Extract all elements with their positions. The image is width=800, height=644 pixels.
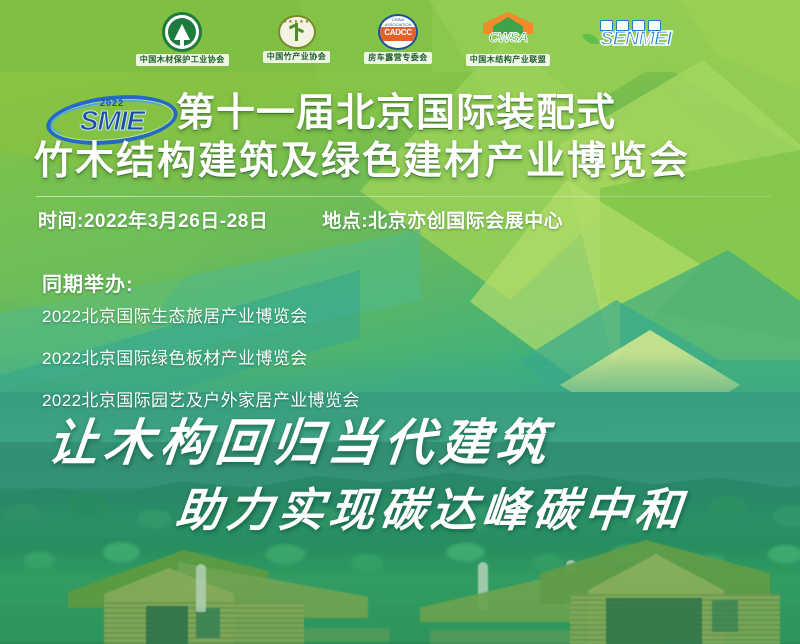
sponsor-name-cn: 中国竹产业协会 <box>263 51 331 63</box>
sponsor-logo-senmei[interactable]: SENMEI <box>584 22 694 56</box>
exhibition-poster: 中国木材保护工业协会 ★★★★★ 中国竹产业协会 CHINA ASSOCIATI… <box>0 0 800 644</box>
sponsor-logo-bamboo-association[interactable]: ★★★★★ 中国竹产业协会 <box>263 15 331 63</box>
cadcc-seal-icon: CHINA ASSOCIATION CADCC <box>378 14 418 50</box>
list-item: 2022北京国际绿色板材产业博览会 <box>42 344 360 369</box>
house-logo-icon: CWSA <box>475 12 541 52</box>
sponsor-name-cn: 房车露营专委会 <box>364 52 432 64</box>
title-line-2: 竹木结构建筑及绿色建材产业博览会 <box>34 142 786 183</box>
concurrent-heading: 同期举办: <box>42 268 134 297</box>
title-line-1: 第十一届北京国际装配式 <box>176 94 784 135</box>
list-item: 2022北京国际生态旅居产业博览会 <box>42 302 360 327</box>
sponsor-name-cn: 中国木材保护工业协会 <box>136 54 229 66</box>
sponsor-logo-strip: 中国木材保护工业协会 ★★★★★ 中国竹产业协会 CHINA ASSOCIATI… <box>0 0 800 78</box>
senmei-leaf-icon: SENMEI <box>584 22 694 56</box>
list-item: 2022北京国际园艺及户外家居产业博览会 <box>42 386 360 411</box>
concurrent-events-list: 2022北京国际生态旅居产业博览会 2022北京国际绿色板材产业博览会 2022… <box>42 302 360 428</box>
sponsor-logo-cadcc[interactable]: CHINA ASSOCIATION CADCC 房车露营专委会 <box>364 14 432 64</box>
event-date: 时间:2022年3月26日-28日 <box>38 206 268 233</box>
cwsa-abbr: CWSA <box>475 29 541 45</box>
smie-wordmark: SMIE <box>46 107 178 135</box>
smie-logo[interactable]: 2022 SMIE <box>46 96 178 144</box>
tree-seal-icon <box>162 12 202 52</box>
sponsor-logo-cwsa[interactable]: CWSA 中国木结构产业联盟 <box>466 12 551 66</box>
bamboo-seal-icon: ★★★★★ <box>278 15 316 49</box>
slogan-line-2: 助力实现碳达峰碳中和 <box>174 488 689 534</box>
cadcc-abbr: CADCC <box>384 28 411 37</box>
sponsor-logo-china-timber-association[interactable]: 中国木材保护工业协会 <box>136 12 229 66</box>
title-divider <box>36 196 772 197</box>
event-meta: 时间:2022年3月26日-28日 地点:北京亦创国际会展中心 <box>38 206 780 233</box>
page-title: 第十一届北京国际装配式 <box>176 94 784 135</box>
sponsor-name-cn: 中国木结构产业联盟 <box>466 54 551 66</box>
slogan-line-1: 让木构回归当代建筑 <box>45 418 554 468</box>
event-venue: 地点:北京亦创国际会展中心 <box>322 206 563 233</box>
